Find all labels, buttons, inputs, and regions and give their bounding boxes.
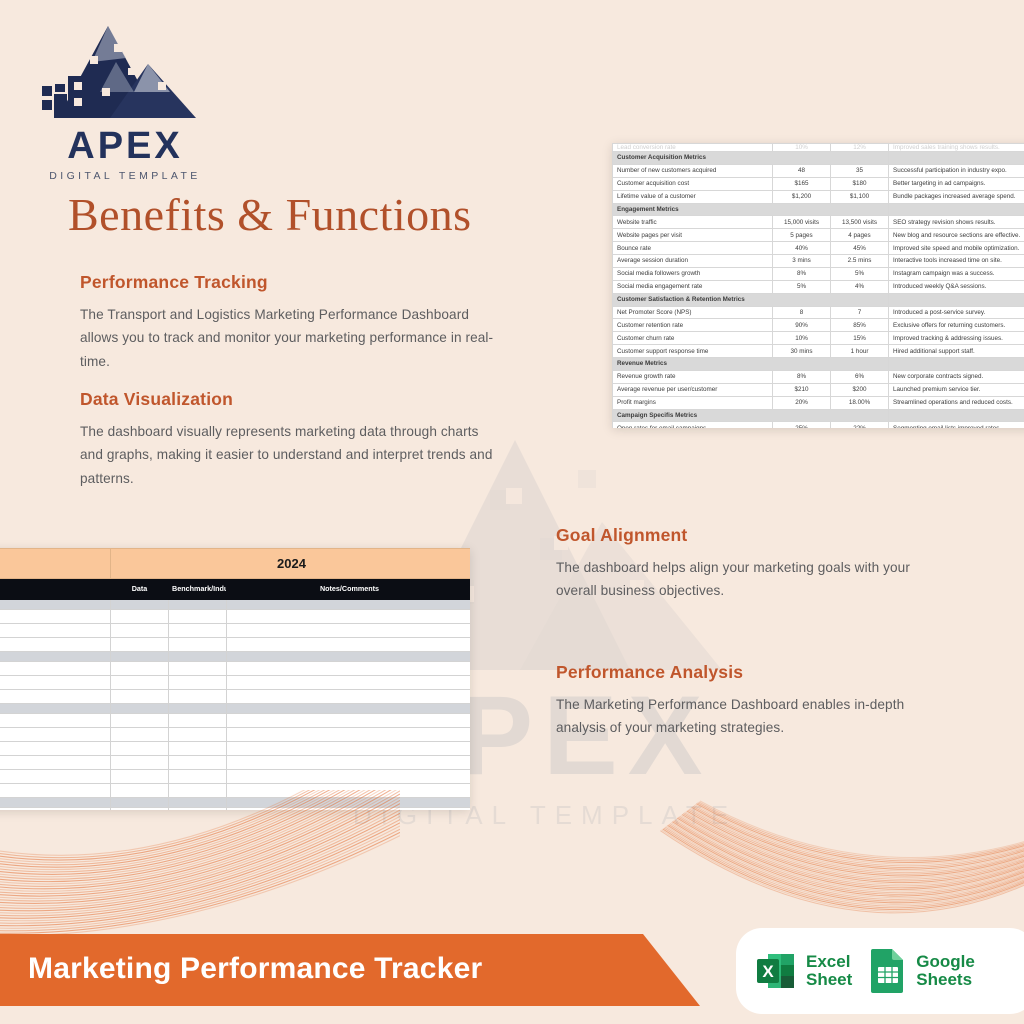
section-body: The Marketing Performance Dashboard enab… xyxy=(556,693,946,740)
table-section-row[interactable]: Customer Acquisition Metrics xyxy=(613,152,1024,165)
table-row[interactable]: Website traffic15,000 visits13,500 visit… xyxy=(613,216,1024,229)
table-cell[interactable]: Segmenting email lists improved rates. xyxy=(889,422,1024,428)
table-section-row[interactable] xyxy=(0,798,470,808)
table-cell[interactable]: Streamlined operations and reduced costs… xyxy=(889,396,1024,409)
table-cell[interactable]: Exclusive offers for returning customers… xyxy=(889,319,1024,332)
table-cell[interactable] xyxy=(169,638,227,652)
table-cell[interactable] xyxy=(111,808,169,810)
table-row[interactable]: New blog and resource sections are effec… xyxy=(0,728,470,742)
year-header-row: 20232024 xyxy=(0,549,470,579)
section-heading: Performance Tracking xyxy=(80,272,500,293)
table-cell[interactable]: 8% xyxy=(773,370,831,383)
table-cell[interactable]: Average revenue per user/customer xyxy=(613,383,773,396)
section-body: The dashboard helps align your marketing… xyxy=(556,556,946,603)
table-cell[interactable]: Open rates for email campaigns xyxy=(613,422,773,428)
table-cell[interactable] xyxy=(0,704,111,714)
table-cell[interactable]: $1,200 xyxy=(773,190,831,203)
table-cell[interactable]: 1 hour xyxy=(831,345,889,358)
table-cell[interactable] xyxy=(169,808,227,810)
section-heading: Performance Analysis xyxy=(556,662,946,683)
table-cell[interactable]: Customer retention rate xyxy=(613,319,773,332)
table-section-label[interactable]: Campaign Specifis Metrics xyxy=(613,409,889,422)
table-cell[interactable] xyxy=(111,784,169,798)
table-row[interactable]: Average revenue per user/customer$210$20… xyxy=(613,383,1024,396)
table-cell[interactable] xyxy=(889,358,1024,371)
table-row[interactable]: Introduced weekly Q&A sessions. xyxy=(0,784,470,798)
table-cell[interactable]: Better targeting in ad campaigns. xyxy=(889,177,1024,190)
table-cell[interactable]: New blog and resource sections are effec… xyxy=(889,229,1024,242)
table-row[interactable]: Successful participation in industry exp… xyxy=(0,662,470,676)
logo-tagline: DIGITAL TEMPLATE xyxy=(30,170,220,182)
table-section-row[interactable]: Customer Satisfaction & Retention Metric… xyxy=(613,293,1024,306)
table-cell[interactable]: New blog and resource sections are effec… xyxy=(0,728,111,742)
table-cell[interactable] xyxy=(111,728,169,742)
badge-excel[interactable]: X ExcelSheet xyxy=(754,949,852,993)
table-cell[interactable] xyxy=(889,409,1024,422)
table-section-label[interactable]: Customer Satisfaction & Retention Metric… xyxy=(613,293,889,306)
table-row[interactable]: Social media followers growth8%5%Instagr… xyxy=(613,267,1024,280)
apex-logo: APEX DIGITAL TEMPLATE xyxy=(30,22,220,172)
table-row[interactable]: Bounce rate40%45%Improved site speed and… xyxy=(613,242,1024,255)
metrics-table: Lead conversion rate10%12%Improved sales… xyxy=(612,143,1024,428)
table-cell[interactable] xyxy=(227,756,471,770)
table-cell[interactable] xyxy=(169,704,227,714)
table-row[interactable]: Profit margins20%18.00%Streamlined opera… xyxy=(613,396,1024,409)
table-section-row[interactable]: Engagement Metrics xyxy=(613,203,1024,216)
table-cell[interactable]: Profit margins xyxy=(613,396,773,409)
table-row[interactable]: Introduced a post-service survey. xyxy=(0,808,470,810)
product-title: Marketing Performance Tracker xyxy=(28,952,482,986)
table-cell[interactable]: 25% xyxy=(773,422,831,428)
table-cell[interactable]: 5% xyxy=(831,267,889,280)
table-cell[interactable] xyxy=(111,714,169,728)
table-cell[interactable] xyxy=(111,676,169,690)
table-cell[interactable]: Net Promoter Score (NPS) xyxy=(613,306,773,319)
table-cell[interactable]: Bundle packages increased average spend. xyxy=(0,690,111,704)
table-cell[interactable]: Revenue growth rate xyxy=(613,370,773,383)
table-cell[interactable] xyxy=(227,652,471,662)
poster-canvas: APEX DIGITAL TEMPLATE xyxy=(0,0,1024,1024)
table-cell[interactable] xyxy=(111,704,169,714)
excel-icon: X xyxy=(754,949,798,993)
column-header: Data xyxy=(111,579,169,600)
table-cell[interactable]: SEO strategy revision shows results. xyxy=(0,714,111,728)
product-title-banner: Marketing Performance Tracker xyxy=(0,934,700,1006)
table-cell[interactable]: $1,100 xyxy=(831,190,889,203)
table-cell[interactable] xyxy=(0,652,111,662)
table-cell[interactable] xyxy=(227,798,471,808)
decorative-arc-left xyxy=(0,790,400,940)
section-body: The dashboard visually represents market… xyxy=(80,420,500,490)
table-cell[interactable]: Efficient ad spend. xyxy=(0,624,111,638)
table-cell[interactable]: 4% xyxy=(831,280,889,293)
metrics-spreadsheet-top[interactable]: Lead conversion rate10%12%Improved sales… xyxy=(612,143,1024,428)
table-cell[interactable] xyxy=(889,293,1024,306)
table-cell[interactable] xyxy=(111,756,169,770)
table-cell[interactable] xyxy=(227,676,471,690)
table-cell[interactable]: 90% xyxy=(773,319,831,332)
mountain-logo-icon xyxy=(30,22,220,122)
table-cell[interactable] xyxy=(227,662,471,676)
table-cell[interactable]: 30 mins xyxy=(773,345,831,358)
svg-text:X: X xyxy=(762,962,774,981)
table-cell[interactable]: Introduced a post-service survey. xyxy=(889,306,1024,319)
table-section-label[interactable]: Revenue Metrics xyxy=(613,358,889,371)
table-cell[interactable] xyxy=(169,714,227,728)
table-cell[interactable]: 10% xyxy=(773,144,831,152)
table-cell[interactable] xyxy=(227,728,471,742)
table-cell[interactable] xyxy=(169,784,227,798)
table-cell[interactable]: Website traffic xyxy=(613,216,773,229)
table-cell[interactable]: 13,500 visits xyxy=(831,216,889,229)
table-cell[interactable]: Number of new customers acquired xyxy=(613,164,773,177)
table-cell[interactable] xyxy=(111,652,169,662)
table-cell[interactable] xyxy=(227,784,471,798)
table-cell[interactable] xyxy=(169,662,227,676)
table-cell[interactable]: 15,000 visits xyxy=(773,216,831,229)
table-cell[interactable]: Bundle packages increased average spend. xyxy=(889,190,1024,203)
table-cell[interactable]: 3 mins xyxy=(773,255,831,268)
table-cell[interactable]: Interactive tools increased time on site… xyxy=(0,756,111,770)
table-cell[interactable]: Website pages per visit xyxy=(613,229,773,242)
table-row[interactable]: Improved sales training shows results. xyxy=(0,638,470,652)
format-badges: X ExcelSheet GoogleSheets xyxy=(736,928,1024,1014)
table-row[interactable]: Lead conversion rate10%12%Improved sales… xyxy=(613,144,1024,152)
table-cell[interactable] xyxy=(227,714,471,728)
table-cell[interactable]: $210 xyxy=(773,383,831,396)
table-cell[interactable] xyxy=(227,808,471,810)
table-row[interactable]: Number of new customers acquired4835Succ… xyxy=(613,164,1024,177)
column-header: Notes/Comments xyxy=(227,579,471,600)
notes-table: 20232024Notes/CommentsDataBenchmark/Indu… xyxy=(0,548,470,810)
table-cell[interactable]: Launched premium service tier. xyxy=(889,383,1024,396)
table-section-row[interactable]: Revenue Metrics xyxy=(613,358,1024,371)
table-row[interactable]: Average session duration3 mins2.5 minsIn… xyxy=(613,255,1024,268)
table-cell[interactable]: Improved site speed and mobile optimizat… xyxy=(889,242,1024,255)
table-cell[interactable]: Increased marketing in Q2 showed results… xyxy=(0,610,111,624)
table-cell[interactable] xyxy=(169,610,227,624)
table-cell[interactable]: 5 pages xyxy=(773,229,831,242)
table-row[interactable]: SEO strategy revision shows results. xyxy=(0,714,470,728)
table-cell[interactable] xyxy=(227,600,471,610)
table-cell[interactable] xyxy=(227,690,471,704)
table-row[interactable]: Efficient ad spend. xyxy=(0,624,470,638)
table-cell[interactable]: Lifetime value of a customer xyxy=(613,190,773,203)
table-cell[interactable] xyxy=(111,600,169,610)
table-cell[interactable]: 85% xyxy=(831,319,889,332)
table-cell[interactable]: Customer support response time xyxy=(613,345,773,358)
table-cell[interactable] xyxy=(111,610,169,624)
table-cell[interactable]: 15% xyxy=(831,332,889,345)
table-cell[interactable]: 12% xyxy=(831,144,889,152)
table-row[interactable]: Social media engagement rate5%4%Introduc… xyxy=(613,280,1024,293)
table-cell[interactable]: 40% xyxy=(773,242,831,255)
table-row[interactable]: Website pages per visit5 pages4 pagesNew… xyxy=(613,229,1024,242)
table-cell[interactable] xyxy=(169,770,227,784)
table-row[interactable]: Customer acquisition cost$165$180Better … xyxy=(613,177,1024,190)
table-cell[interactable]: Improved site speed and mobile optimizat… xyxy=(0,742,111,756)
table-cell[interactable]: 8% xyxy=(773,267,831,280)
table-cell[interactable] xyxy=(111,798,169,808)
table-cell[interactable] xyxy=(889,152,1024,165)
table-section-label[interactable]: Customer Acquisition Metrics xyxy=(613,152,889,165)
table-cell[interactable] xyxy=(227,704,471,714)
table-cell[interactable] xyxy=(169,600,227,610)
table-cell[interactable] xyxy=(111,638,169,652)
table-cell[interactable]: Improved sales training shows results. xyxy=(0,638,111,652)
table-cell[interactable]: $180 xyxy=(831,177,889,190)
table-cell[interactable]: Introduced weekly Q&A sessions. xyxy=(889,280,1024,293)
table-cell[interactable]: Improved sales training shows results. xyxy=(889,144,1024,152)
table-cell[interactable]: $165 xyxy=(773,177,831,190)
table-cell[interactable]: SEO strategy revision shows results. xyxy=(889,216,1024,229)
table-row[interactable]: Bundle packages increased average spend. xyxy=(0,690,470,704)
table-cell[interactable]: Better targeting in ad campaigns. xyxy=(0,676,111,690)
column-header-row: Notes/CommentsDataBenchmark/IndustryNote… xyxy=(0,579,470,600)
table-cell[interactable]: 22% xyxy=(831,422,889,428)
table-cell[interactable]: New corporate contracts signed. xyxy=(889,370,1024,383)
section-heading: Goal Alignment xyxy=(556,525,946,546)
table-cell[interactable]: Average session duration xyxy=(613,255,773,268)
table-cell[interactable]: 5% xyxy=(773,280,831,293)
decorative-arc-right xyxy=(660,795,1024,935)
table-cell[interactable] xyxy=(111,662,169,676)
table-cell[interactable]: 20% xyxy=(773,396,831,409)
table-cell[interactable]: Lead conversion rate xyxy=(613,144,773,152)
table-cell[interactable]: Successful participation in industry exp… xyxy=(889,164,1024,177)
badge-excel-label: ExcelSheet xyxy=(806,953,852,989)
table-cell[interactable] xyxy=(0,600,111,610)
table-cell[interactable]: Hired additional support staff. xyxy=(889,345,1024,358)
table-row[interactable]: Open rates for email campaigns25%22%Segm… xyxy=(613,422,1024,428)
table-row[interactable]: Lifetime value of a customer$1,200$1,100… xyxy=(613,190,1024,203)
table-cell[interactable]: Instagram campaign was a success. xyxy=(889,267,1024,280)
table-cell[interactable]: Customer churn rate xyxy=(613,332,773,345)
page-title: Benefits & Functions xyxy=(68,188,472,241)
year-2024-header: 2024 xyxy=(111,549,471,579)
table-cell[interactable]: 45% xyxy=(831,242,889,255)
table-cell[interactable]: 8 xyxy=(773,306,831,319)
table-cell[interactable] xyxy=(889,203,1024,216)
badge-google-sheets[interactable]: GoogleSheets xyxy=(868,947,975,995)
table-cell[interactable]: 10% xyxy=(773,332,831,345)
section-body: The Transport and Logistics Marketing Pe… xyxy=(80,303,500,373)
table-cell[interactable]: Improved tracking & addressing issues. xyxy=(889,332,1024,345)
table-cell[interactable]: $200 xyxy=(831,383,889,396)
table-cell[interactable] xyxy=(111,690,169,704)
table-section-label[interactable]: Engagement Metrics xyxy=(613,203,889,216)
table-cell[interactable]: Social media engagement rate xyxy=(613,280,773,293)
column-header: Notes/Comments xyxy=(0,579,111,600)
table-row[interactable]: Interactive tools increased time on site… xyxy=(0,756,470,770)
table-cell[interactable] xyxy=(169,728,227,742)
table-cell[interactable]: Social media followers growth xyxy=(613,267,773,280)
table-cell[interactable] xyxy=(169,798,227,808)
notes-spreadsheet-bottom[interactable]: 20232024Notes/CommentsDataBenchmark/Indu… xyxy=(0,548,470,810)
table-cell[interactable] xyxy=(0,798,111,808)
section-goal-alignment: Goal Alignment The dashboard helps align… xyxy=(556,525,946,603)
section-data-visualization: Data Visualization The dashboard visuall… xyxy=(80,389,500,490)
badge-sheets-label: GoogleSheets xyxy=(916,953,975,989)
table-cell[interactable] xyxy=(169,742,227,756)
table-cell[interactable] xyxy=(169,676,227,690)
table-cell[interactable] xyxy=(169,624,227,638)
section-performance-analysis: Performance Analysis The Marketing Perfo… xyxy=(556,662,946,740)
table-row[interactable]: Improved site speed and mobile optimizat… xyxy=(0,742,470,756)
logo-wordmark: APEX xyxy=(30,127,220,165)
table-cell[interactable]: 35 xyxy=(831,164,889,177)
table-cell[interactable] xyxy=(227,624,471,638)
table-section-row[interactable] xyxy=(0,704,470,714)
table-cell[interactable] xyxy=(111,624,169,638)
section-heading: Data Visualization xyxy=(80,389,500,410)
table-cell[interactable]: 4 pages xyxy=(831,229,889,242)
table-cell[interactable] xyxy=(227,742,471,756)
table-row[interactable]: Increased marketing in Q2 showed results… xyxy=(0,610,470,624)
section-performance-tracking: Performance Tracking The Transport and L… xyxy=(80,272,500,373)
table-cell[interactable]: Introduced weekly Q&A sessions. xyxy=(0,784,111,798)
table-section-row[interactable] xyxy=(0,652,470,662)
table-cell[interactable]: Interactive tools increased time on site… xyxy=(889,255,1024,268)
table-cell[interactable] xyxy=(227,610,471,624)
table-cell[interactable] xyxy=(169,756,227,770)
table-cell[interactable] xyxy=(111,742,169,756)
table-section-row[interactable]: Campaign Specifis Metrics xyxy=(613,409,1024,422)
column-header: Benchmark/Industry xyxy=(169,579,227,600)
table-row[interactable]: Instagram campaign was a success. xyxy=(0,770,470,784)
table-row[interactable]: Revenue growth rate8%6%New corporate con… xyxy=(613,370,1024,383)
table-cell[interactable]: 2.5 mins xyxy=(831,255,889,268)
table-row[interactable]: Customer retention rate90%85%Exclusive o… xyxy=(613,319,1024,332)
table-cell[interactable]: 7 xyxy=(831,306,889,319)
table-cell[interactable]: Introduced a post-service survey. xyxy=(0,808,111,810)
table-cell[interactable]: 48 xyxy=(773,164,831,177)
table-cell[interactable] xyxy=(169,652,227,662)
table-row[interactable]: Customer churn rate10%15%Improved tracki… xyxy=(613,332,1024,345)
table-section-row[interactable] xyxy=(0,600,470,610)
table-row[interactable]: Net Promoter Score (NPS)87Introduced a p… xyxy=(613,306,1024,319)
table-cell[interactable]: Instagram campaign was a success. xyxy=(0,770,111,784)
table-cell[interactable]: 6% xyxy=(831,370,889,383)
table-cell[interactable] xyxy=(169,690,227,704)
table-row[interactable]: Customer support response time30 mins1 h… xyxy=(613,345,1024,358)
google-sheets-icon xyxy=(868,947,908,995)
table-cell[interactable]: 18.00% xyxy=(831,396,889,409)
table-row[interactable]: Better targeting in ad campaigns. xyxy=(0,676,470,690)
year-2023-header: 2023 xyxy=(0,549,111,579)
table-cell[interactable] xyxy=(111,770,169,784)
table-cell[interactable]: Successful participation in industry exp… xyxy=(0,662,111,676)
table-cell[interactable] xyxy=(227,638,471,652)
table-cell[interactable]: Customer acquisition cost xyxy=(613,177,773,190)
table-cell[interactable]: Bounce rate xyxy=(613,242,773,255)
table-cell[interactable] xyxy=(227,770,471,784)
